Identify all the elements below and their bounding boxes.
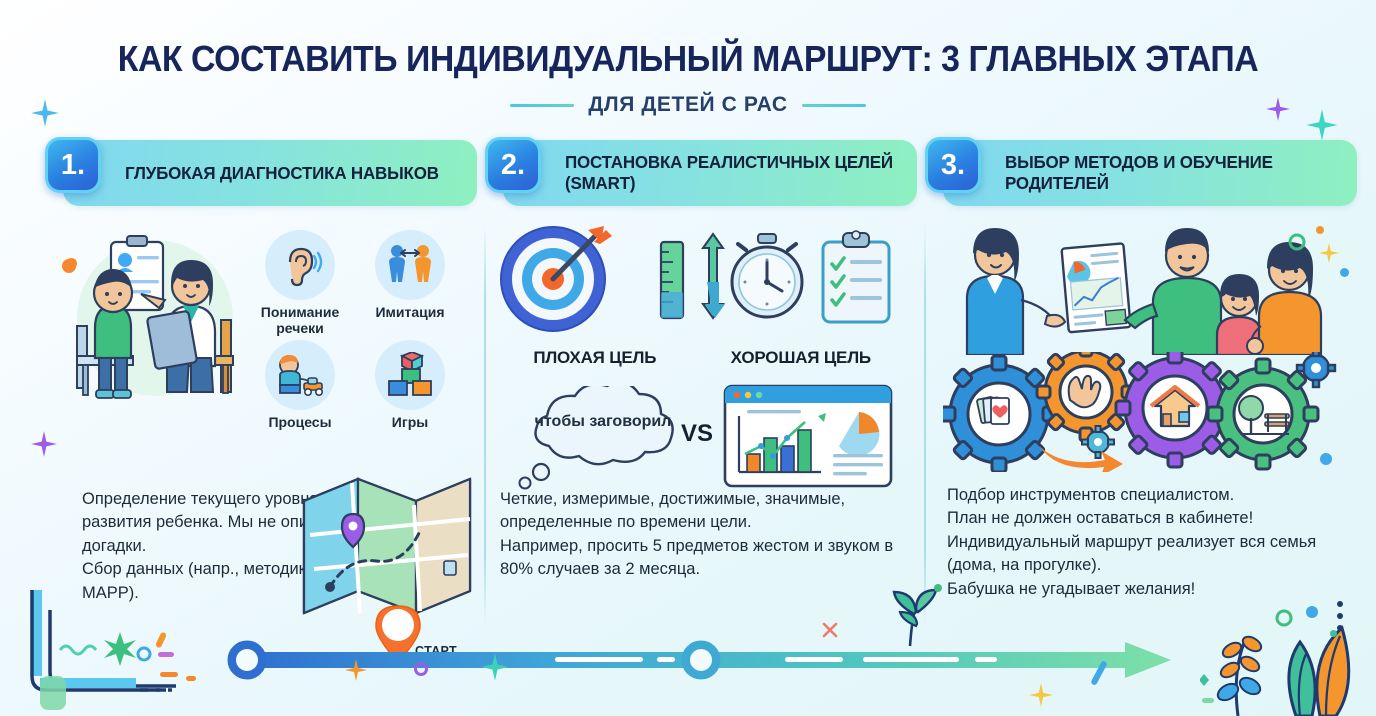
sparkle-icon (1028, 682, 1054, 708)
dot-decoration (66, 258, 77, 269)
stopwatch-icon (732, 234, 802, 317)
clapping-hands-gear-icon (1037, 352, 1135, 441)
thought-cloud-icon (505, 386, 695, 491)
sparkle-icon (1318, 242, 1340, 264)
step-2-body: Четкие, измеримые, достижимые, значимые,… (500, 488, 910, 582)
sparkle-icon (30, 98, 60, 128)
dash-decoration (186, 676, 196, 681)
skill-icon-grid: Понимание речеки Имитация (250, 230, 475, 430)
step-3-heading: ВЫБОР МЕТОДОВ И ОБУЧЕНИЕ РОДИТЕЛЕЙ (1005, 152, 1337, 193)
step-3-number-badge: 3. (925, 137, 981, 193)
sparkle-icon (344, 658, 368, 682)
step-3-body: Подбор инструментов специалистом. План н… (947, 484, 1347, 601)
ring-decoration (414, 662, 428, 676)
corner-bracket-decoration (20, 588, 180, 716)
skill-item[interactable]: Процесы (250, 340, 350, 430)
specialist-handing-report-to-family-icon (937, 220, 1337, 355)
up-down-arrow-icon (703, 234, 725, 318)
step-1-number-badge: 1. (45, 137, 101, 193)
sparkle-icon (1305, 108, 1339, 142)
goal-comparison-headings: ПЛОХАЯ ЦЕЛЬ ХОРОШАЯ ЦЕЛЬ (485, 348, 925, 368)
ruler-icon (661, 242, 683, 318)
cross-decoration (822, 622, 838, 638)
skill-item[interactable]: Игры (360, 340, 460, 430)
therapist-and-child-icon (55, 228, 255, 413)
step-1-header[interactable]: 1. ГЛУБОКАЯ ДИАГНОСТИКА НАВЫКОВ (63, 140, 477, 206)
smart-criteria-icons (493, 222, 913, 337)
checklist-clipboard-icon (823, 231, 889, 322)
step-column-2: 2. ПОСТАНОВКА РЕАЛИСТИЧНЫХ ЦЕЛЕЙ (SMART) (485, 140, 925, 620)
step-2-number-badge: 2. (485, 137, 541, 193)
methods-gear-row (943, 352, 1343, 472)
step-2-header[interactable]: 2. ПОСТАНОВКА РЕАЛИСТИЧНЫХ ЦЕЛЕЙ (SMART) (503, 140, 917, 206)
subtitle-rule-left (510, 104, 574, 107)
cards-gear-icon (943, 356, 1057, 472)
bad-goal-heading: ПЛОХАЯ ЦЕЛЬ (499, 348, 691, 368)
two-people-icon (375, 230, 445, 300)
skill-label: Понимание речеки (250, 304, 350, 336)
skill-label: Игры (360, 414, 460, 430)
subtitle-rule-right (802, 104, 866, 107)
step-column-3: 3. ВЫБОР МЕТОДОВ И ОБУЧЕНИЕ РОДИТЕЛЕЙ (925, 140, 1365, 620)
step-1-heading: ГЛУБОКАЯ ДИАГНОСТИКА НАВЫКОВ (125, 163, 439, 184)
good-goal-heading: ХОРОШАЯ ЦЕЛЬ (691, 348, 911, 368)
vs-label: VS (681, 420, 713, 448)
plant-sprout-decoration (880, 578, 950, 648)
step-3-header[interactable]: 3. ВЫБОР МЕТОДОВ И ОБУЧЕНИЕ РОДИТЕЛЕЙ (943, 140, 1357, 206)
ear-icon (265, 230, 335, 300)
dashboard-chart-icon (723, 384, 893, 488)
progress-timeline-arrow[interactable] (225, 640, 1185, 680)
sparkle-icon (1265, 96, 1291, 122)
dot-decoration (1340, 268, 1349, 277)
page-subtitle: ДЛЯ ДЕТЕЙ С РАС (588, 93, 787, 117)
infographic-page: КАК СОСТАВИТЬ ИНДИВИДУАЛЬНЫЙ МАРШРУТ: 3 … (0, 0, 1376, 716)
skill-item[interactable]: Понимание речеки (250, 230, 350, 336)
bad-goal-text: чтобы заговорил (533, 412, 673, 432)
sparkle-icon (480, 652, 510, 682)
step-2-heading: ПОСТАНОВКА РЕАЛИСТИЧНЫХ ЦЕЛЕЙ (SMART) (565, 152, 897, 193)
target-with-arrow-icon (501, 226, 612, 331)
route-map-icon (300, 465, 475, 620)
subtitle-row: ДЛЯ ДЕТЕЙ С РАС (0, 93, 1376, 117)
child-with-toy-car-icon (265, 340, 335, 410)
step-column-1: 1. ГЛУБОКАЯ ДИАГНОСТИКА НАВЫКОВ (45, 140, 485, 620)
sparkle-icon (30, 430, 58, 458)
leaves-decoration (1200, 600, 1376, 716)
skill-label: Процесы (250, 414, 350, 430)
page-title: КАК СОСТАВИТЬ ИНДИВИДУАЛЬНЫЙ МАРШРУТ: 3 … (41, 38, 1334, 80)
skill-label: Имитация (360, 304, 460, 320)
dash-decoration (160, 672, 178, 677)
skill-item[interactable]: Имитация (360, 230, 460, 336)
goal-comparison-row: чтобы заговорил VS (485, 378, 925, 488)
building-blocks-icon (375, 340, 445, 410)
park-bench-gear-icon (1208, 359, 1318, 469)
dot-decoration (1330, 630, 1337, 637)
